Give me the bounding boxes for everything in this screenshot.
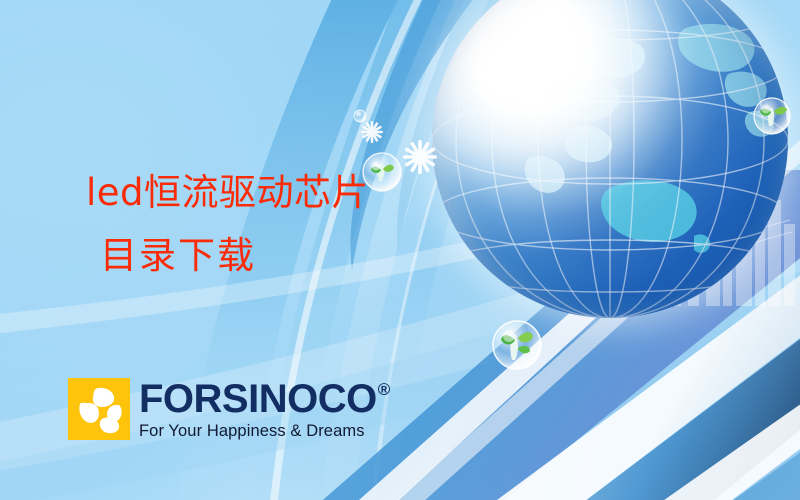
brand-tagline: For Your Happiness & Dreams bbox=[139, 423, 390, 440]
bubble-small-top bbox=[354, 110, 366, 122]
registered-trademark-icon: ® bbox=[378, 381, 390, 398]
promo-banner: led恒流驱动芯片 目录下载 FORSINOCO® For Your Happi… bbox=[0, 0, 800, 500]
bubble-green-sprout-lower bbox=[493, 321, 541, 369]
pinwheel-flower-icon bbox=[68, 378, 130, 440]
brand-wordmark-block: FORSINOCO® For Your Happiness & Dreams bbox=[139, 379, 390, 440]
brand-name: FORSINOCO bbox=[139, 379, 377, 419]
earth-globe bbox=[432, 0, 788, 318]
brand-logo: FORSINOCO® For Your Happiness & Dreams bbox=[68, 378, 390, 440]
headline-line-2: 目录下载 bbox=[100, 226, 256, 286]
headline-line-1: led恒流驱动芯片 bbox=[86, 163, 369, 223]
starburst-small bbox=[361, 121, 383, 143]
brand-wordmark: FORSINOCO® bbox=[139, 379, 390, 419]
